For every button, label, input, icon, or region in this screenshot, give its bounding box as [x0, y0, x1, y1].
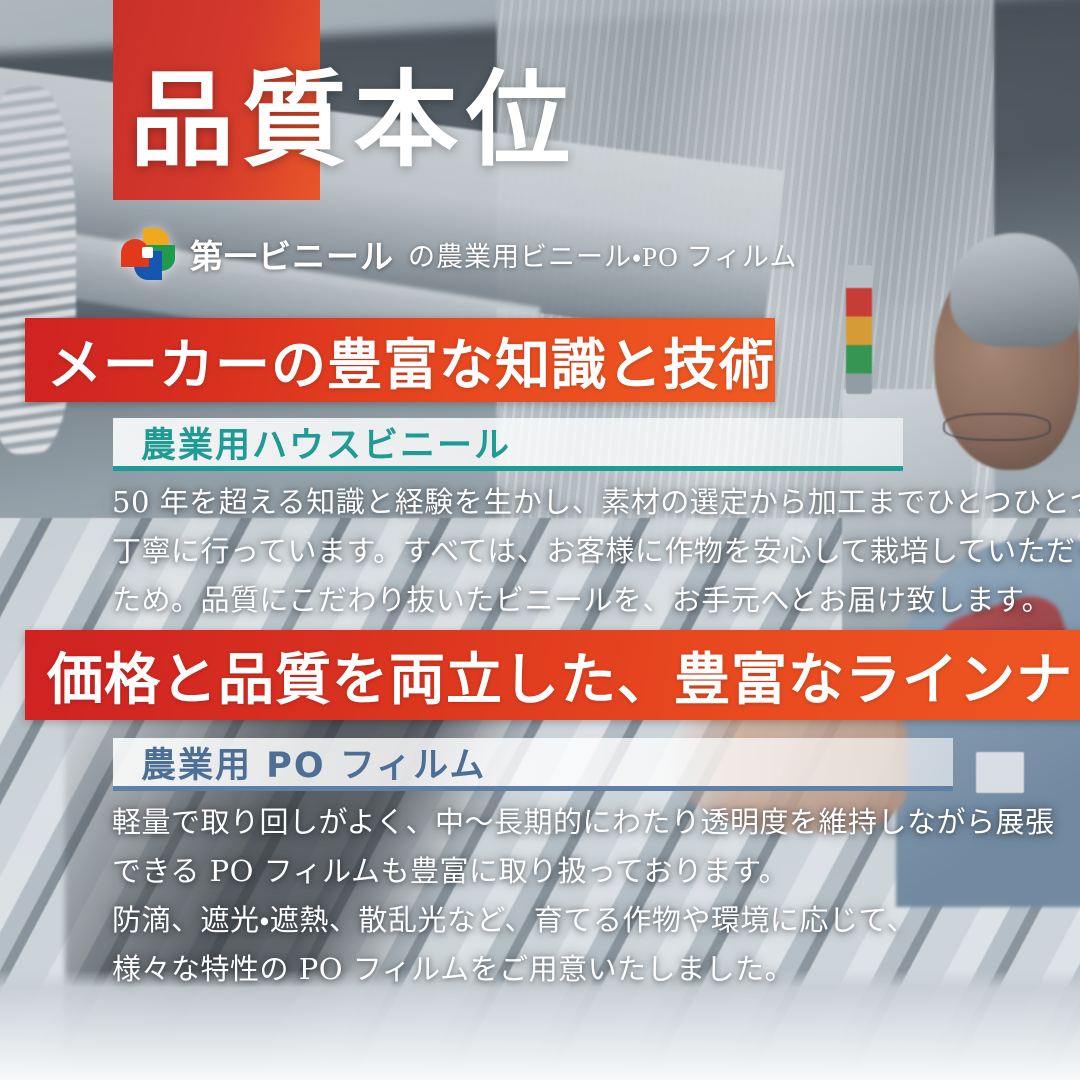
subsection-heading-1: 農業用ハウスビニール: [113, 418, 903, 471]
body-line: ため。品質にこだわり抜いたビニールを、お手元へとお届け致します。: [112, 576, 1012, 625]
subsection-heading-label-1: 農業用ハウスビニール: [113, 417, 511, 468]
banner-bar-2: 価格と品質を両立した、豊富なラインナップ: [25, 630, 1080, 720]
logo-core-icon: [142, 247, 153, 258]
promo-banner-page: 品質本位 第一ビニール の農業用ビニール・PO フィルム メーカーの豊富な知識と…: [0, 0, 1080, 1080]
banner-headline-1: メーカーの豊富な知識と技術: [25, 320, 775, 400]
subsection-heading-2: 農業用 PO フィルム: [113, 738, 953, 791]
body-line: 丁寧に行っています。すべては、お客様に作物を安心して栽培していただく: [112, 527, 1012, 576]
subsection-heading-label-2: 農業用 PO フィルム: [113, 737, 486, 788]
section-body-1: 50 年を超える知識と経験を生かし、素材の選定から加工までひとつひとつ 丁寧に行…: [112, 478, 1012, 625]
brand-name: 第一ビニール: [190, 230, 394, 278]
body-line: 50 年を超える知識と経験を生かし、素材の選定から加工までひとつひとつ: [112, 478, 1012, 527]
body-line: 軽量で取り回しがよく、中〜長期的にわたり透明度を維持しながら展張: [112, 798, 1012, 847]
body-line: できる PO フィルムも豊富に取り扱っております。: [112, 847, 1012, 896]
content-layer: 品質本位 第一ビニール の農業用ビニール・PO フィルム メーカーの豊富な知識と…: [0, 0, 1080, 1080]
section-banner-2: 価格と品質を両立した、豊富なラインナップ: [12, 630, 956, 720]
company-logo-icon: [120, 226, 176, 282]
body-line: 防滴、遮光・遮熱、散乱光など、育てる作物や環境に応じて、: [112, 896, 1012, 945]
brand-tagline: の農業用ビニール・PO フィルム: [408, 235, 797, 274]
page-title: 品質本位: [130, 68, 578, 172]
banner-headline-2: 価格と品質を両立した、豊富なラインナップ: [25, 635, 1080, 716]
section-banner-1: メーカーの豊富な知識と技術: [12, 318, 756, 402]
brand-row: 第一ビニール の農業用ビニール・PO フィルム: [120, 226, 797, 282]
section-body-2: 軽量で取り回しがよく、中〜長期的にわたり透明度を維持しながら展張 できる PO …: [112, 798, 1012, 994]
body-line: 様々な特性の PO フィルムをご用意いたしました。: [112, 945, 1012, 994]
banner-bar-1: メーカーの豊富な知識と技術: [25, 318, 775, 402]
